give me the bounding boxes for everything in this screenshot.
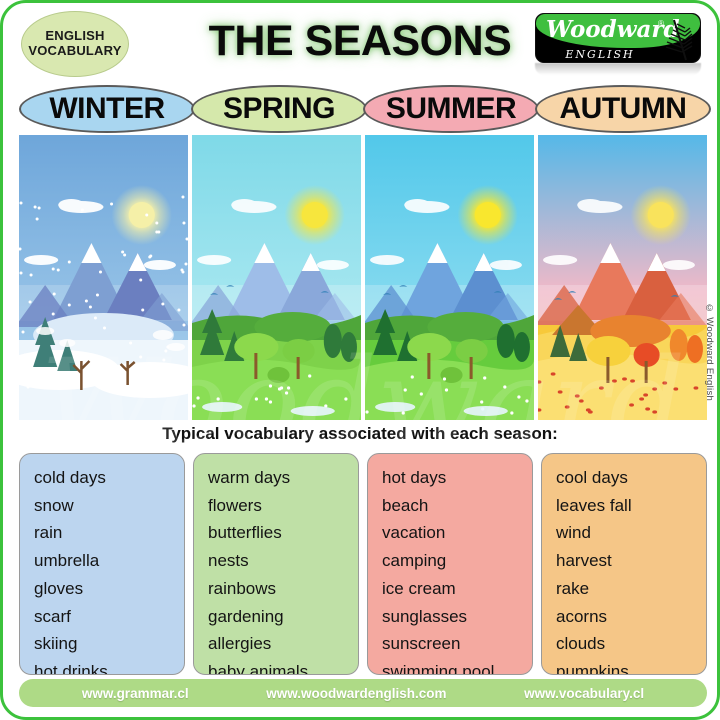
vocabulary-item: baby animals (208, 658, 352, 675)
poster-header: ENGLISH VOCABULARY THE SEASONS Woodward … (3, 3, 717, 85)
footer-link-3[interactable]: www.vocabulary.cl (524, 686, 644, 701)
season-scene-spring (192, 135, 361, 420)
season-tab-label: SUMMER (386, 92, 516, 126)
vocabulary-item: gloves (34, 575, 178, 603)
vocabulary-item: vacation (382, 519, 526, 547)
vocabulary-box-winter: cold dayssnowrainumbrellaglovesscarfskii… (19, 453, 185, 675)
vocabulary-item: umbrella (34, 547, 178, 575)
vocabulary-box-spring: warm daysflowersbutterfliesnestsrainbows… (193, 453, 359, 675)
vocabulary-box-summer: hot daysbeachvacationcampingice creamsun… (367, 453, 533, 675)
vocabulary-item: scarf (34, 603, 178, 631)
vocabulary-item: ice cream (382, 575, 526, 603)
vocabulary-item: camping (382, 547, 526, 575)
vocabulary-item: allergies (208, 630, 352, 658)
vocabulary-item: pumpkins (556, 658, 700, 675)
vocabulary-item: wind (556, 519, 700, 547)
logo-reflection (535, 63, 701, 75)
scene-graphic (19, 135, 188, 420)
woodward-english-logo[interactable]: Woodward ® ENGLISH (535, 13, 701, 75)
vocabulary-box-autumn: cool daysleaves fallwindharvestrakeacorn… (541, 453, 707, 675)
vocabulary-item: hot drinks (34, 658, 178, 675)
vocabulary-item: harvest (556, 547, 700, 575)
season-tab-label: SPRING (223, 92, 335, 126)
season-tabs: WINTERSPRINGSUMMERAUTUMN (3, 85, 717, 135)
vocabulary-item: leaves fall (556, 492, 700, 520)
vocabulary-item: nests (208, 547, 352, 575)
season-tab-autumn[interactable]: AUTUMN (535, 85, 711, 133)
footer-link-1[interactable]: www.grammar.cl (82, 686, 189, 701)
scene-graphic (192, 135, 361, 420)
vocabulary-item: rake (556, 575, 700, 603)
vocabulary-item: hot days (382, 464, 526, 492)
season-scene-autumn (538, 135, 707, 420)
season-tab-summer[interactable]: SUMMER (363, 85, 539, 133)
vocabulary-item: flowers (208, 492, 352, 520)
logo-card: Woodward ® ENGLISH (535, 13, 701, 63)
season-scene-winter (19, 135, 188, 420)
season-tab-label: AUTUMN (560, 92, 687, 126)
vocabulary-item: butterflies (208, 519, 352, 547)
scene-graphic (538, 135, 707, 420)
vocabulary-caption: Typical vocabulary associated with each … (3, 424, 717, 444)
vocabulary-item: gardening (208, 603, 352, 631)
vocabulary-item: cold days (34, 464, 178, 492)
season-tab-spring[interactable]: SPRING (191, 85, 367, 133)
season-tab-label: WINTER (49, 92, 164, 126)
vocabulary-lists: cold dayssnowrainumbrellaglovesscarfskii… (19, 453, 707, 675)
vocabulary-item: rainbows (208, 575, 352, 603)
logo-subtitle: ENGLISH (536, 48, 664, 61)
season-tab-winter[interactable]: WINTER (19, 85, 195, 133)
vocabulary-item: sunglasses (382, 603, 526, 631)
copyright-notice: © Woodward English (704, 303, 715, 401)
season-scene-summer (365, 135, 534, 420)
footer-links-bar: www.grammar.clwww.woodwardenglish.comwww… (19, 679, 707, 707)
vocabulary-item: warm days (208, 464, 352, 492)
fern-leaf-icon (652, 16, 694, 62)
vocabulary-item: skiing (34, 630, 178, 658)
vocabulary-item: sunscreen (382, 630, 526, 658)
vocabulary-item: cool days (556, 464, 700, 492)
poster-root: ENGLISH VOCABULARY THE SEASONS Woodward … (0, 0, 720, 720)
vocabulary-item: rain (34, 519, 178, 547)
vocabulary-item: snow (34, 492, 178, 520)
vocabulary-item: acorns (556, 603, 700, 631)
footer-link-2[interactable]: www.woodwardenglish.com (266, 686, 446, 701)
vocabulary-item: clouds (556, 630, 700, 658)
scene-graphic (365, 135, 534, 420)
vocabulary-item: beach (382, 492, 526, 520)
vocabulary-item: swimming pool (382, 658, 526, 675)
season-illustrations (3, 135, 720, 420)
